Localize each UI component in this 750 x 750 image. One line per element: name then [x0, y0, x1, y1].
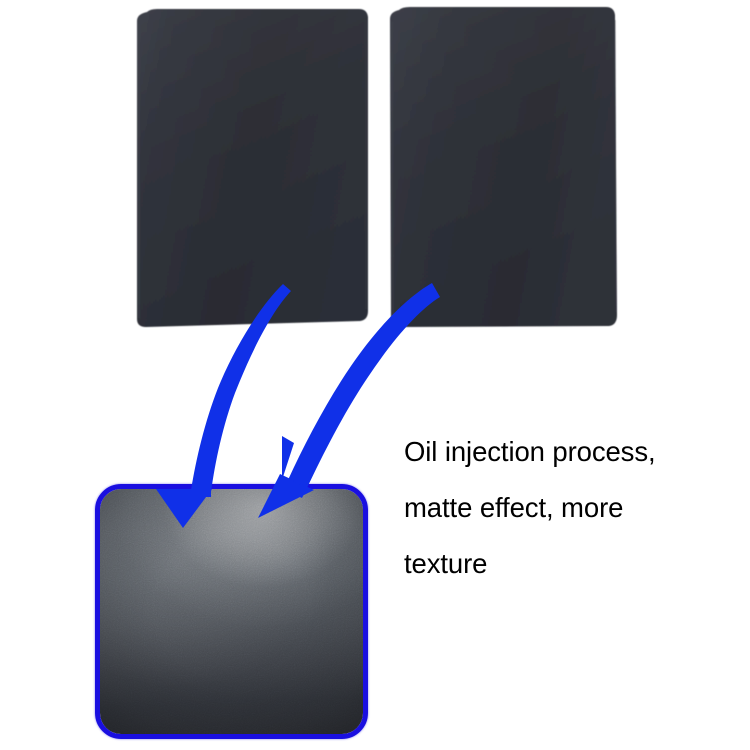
caption-line-3: texture	[404, 536, 740, 592]
zoom-detail-box	[95, 484, 368, 739]
caption-line-2: matte effect, more	[404, 480, 740, 536]
left-panel	[137, 9, 368, 327]
zoom-box-border	[95, 484, 368, 739]
feature-caption: Oil injection process, matte effect, mor…	[404, 424, 740, 592]
caption-line-1: Oil injection process,	[404, 424, 740, 480]
illustration-canvas: Oil injection process, matte effect, mor…	[0, 0, 750, 750]
right-panel	[390, 7, 617, 327]
